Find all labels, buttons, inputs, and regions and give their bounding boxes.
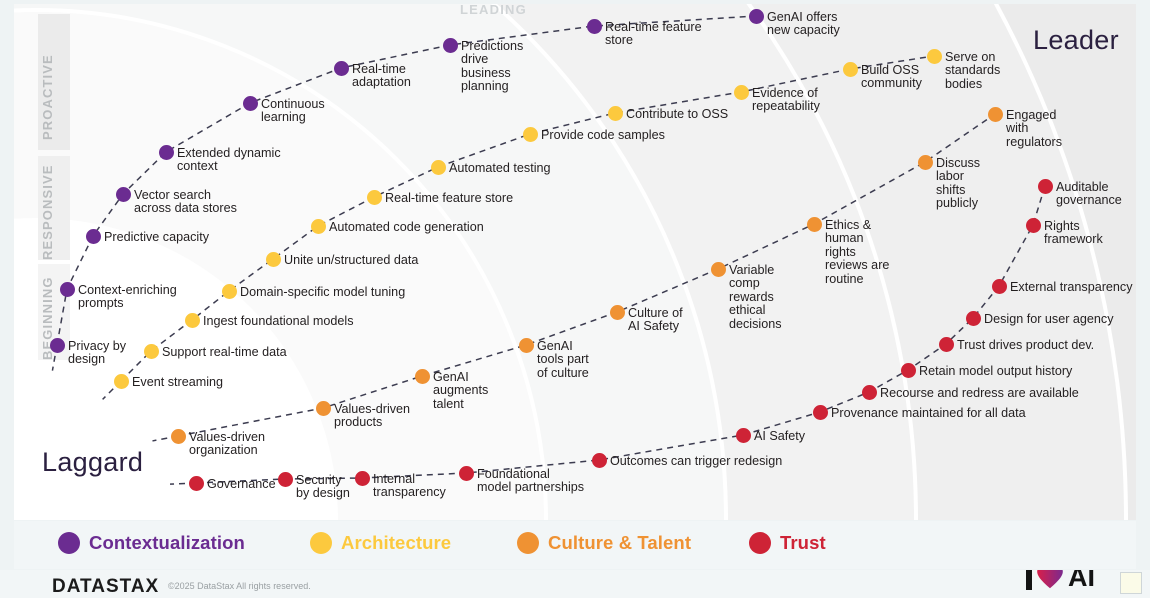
data-point[interactable] bbox=[316, 401, 331, 416]
data-point-label: Retain model output history bbox=[919, 365, 1072, 378]
legend-item-0[interactable]: Contextualization bbox=[58, 532, 245, 554]
copyright-text: ©2025 DataStax All rights reserved. bbox=[168, 581, 311, 591]
data-point-label: Provide code samples bbox=[541, 129, 665, 142]
legend-item-2[interactable]: Culture & Talent bbox=[517, 532, 691, 554]
data-point[interactable] bbox=[459, 466, 474, 481]
legend-item-3[interactable]: Trust bbox=[749, 532, 826, 554]
data-point[interactable] bbox=[443, 38, 458, 53]
data-point-label: Design for user agency bbox=[984, 313, 1114, 326]
data-point[interactable] bbox=[144, 344, 159, 359]
legend-swatch bbox=[749, 532, 771, 554]
data-point-label: AI Safety bbox=[754, 430, 805, 443]
data-point[interactable] bbox=[734, 85, 749, 100]
data-point[interactable] bbox=[311, 219, 326, 234]
data-point[interactable] bbox=[334, 61, 349, 76]
data-point-label: Vector search across data stores bbox=[134, 189, 237, 216]
data-point[interactable] bbox=[185, 313, 200, 328]
data-point[interactable] bbox=[711, 262, 726, 277]
data-point-label: Contribute to OSS bbox=[626, 108, 728, 121]
data-point-label: Ethics & human rights reviews are routin… bbox=[825, 219, 889, 286]
data-point[interactable] bbox=[843, 62, 858, 77]
data-point[interactable] bbox=[608, 106, 623, 121]
data-point[interactable] bbox=[355, 471, 370, 486]
data-point-label: External transparency bbox=[1010, 281, 1133, 294]
legend-label: Architecture bbox=[341, 532, 451, 554]
data-point[interactable] bbox=[431, 160, 446, 175]
data-point[interactable] bbox=[992, 279, 1007, 294]
data-point-label: Security by design bbox=[296, 474, 350, 501]
data-point-label: Outcomes can trigger redesign bbox=[610, 455, 782, 468]
data-point[interactable] bbox=[50, 338, 65, 353]
data-point[interactable] bbox=[367, 190, 382, 205]
legend-item-1[interactable]: Architecture bbox=[310, 532, 451, 554]
data-point-label: Real-time feature store bbox=[385, 192, 513, 205]
data-point-label: Automated code generation bbox=[329, 221, 484, 234]
data-point[interactable] bbox=[523, 127, 538, 142]
data-point-label: Variable comp rewards ethical decisions bbox=[729, 264, 782, 331]
data-point-label: Recourse and redress are available bbox=[880, 387, 1079, 400]
data-point-label: Internal transparency bbox=[373, 473, 446, 500]
data-point[interactable] bbox=[60, 282, 75, 297]
data-point-label: Auditable governance bbox=[1056, 181, 1122, 208]
data-point[interactable] bbox=[813, 405, 828, 420]
data-point[interactable] bbox=[278, 472, 293, 487]
data-point-label: Real-time feature store bbox=[605, 21, 702, 48]
data-point[interactable] bbox=[988, 107, 1003, 122]
data-point-label: Automated testing bbox=[449, 162, 551, 175]
legend-label: Trust bbox=[780, 532, 826, 554]
data-point-label: Predictive capacity bbox=[104, 231, 209, 244]
data-point-label: GenAI augments talent bbox=[433, 371, 488, 411]
data-point[interactable] bbox=[610, 305, 625, 320]
data-point[interactable] bbox=[159, 145, 174, 160]
data-point-label: Predictions drive business planning bbox=[461, 40, 523, 94]
data-point-label: Context-enriching prompts bbox=[78, 284, 177, 311]
data-point-label: Privacy by design bbox=[68, 340, 126, 367]
data-point[interactable] bbox=[415, 369, 430, 384]
logo-letter-i bbox=[1026, 570, 1032, 590]
data-point-label: Extended dynamic context bbox=[177, 147, 281, 174]
data-point[interactable] bbox=[927, 49, 942, 64]
data-point-label: Culture of AI Safety bbox=[628, 307, 683, 334]
data-point[interactable] bbox=[171, 429, 186, 444]
data-point[interactable] bbox=[116, 187, 131, 202]
data-point[interactable] bbox=[266, 252, 281, 267]
data-point-label: Real-time adaptation bbox=[352, 63, 411, 90]
chart-plot-area: LEADING PROACTIVE RESPONSIVE BEGINNING L… bbox=[14, 4, 1136, 520]
data-point-label: Build OSS community bbox=[861, 64, 922, 91]
legend-label: Contextualization bbox=[89, 532, 245, 554]
datastax-wordmark: DATASTAX bbox=[52, 576, 159, 598]
data-point-label: Trust drives product dev. bbox=[957, 339, 1094, 352]
data-point[interactable] bbox=[86, 229, 101, 244]
data-point[interactable] bbox=[966, 311, 981, 326]
data-point[interactable] bbox=[1026, 218, 1041, 233]
data-point[interactable] bbox=[519, 338, 534, 353]
legend-swatch bbox=[58, 532, 80, 554]
corner-marker bbox=[1120, 572, 1142, 594]
data-point[interactable] bbox=[901, 363, 916, 378]
data-point[interactable] bbox=[587, 19, 602, 34]
logo-text-ai: AI bbox=[1068, 570, 1095, 589]
data-point-label: GenAI offers new capacity bbox=[767, 11, 840, 38]
data-point[interactable] bbox=[189, 476, 204, 491]
band-label-proactive: PROACTIVE bbox=[40, 20, 55, 140]
data-point-label: Foundational model partnerships bbox=[477, 468, 584, 495]
band-label-leading: LEADING bbox=[460, 4, 527, 17]
data-point-label: Discuss labor shifts publicly bbox=[936, 157, 980, 211]
footer-bar: DATASTAX ©2025 DataStax All rights reser… bbox=[0, 570, 1150, 598]
data-point-label: Serve on standards bodies bbox=[945, 51, 1000, 91]
data-point[interactable] bbox=[222, 284, 237, 299]
data-point[interactable] bbox=[807, 217, 822, 232]
data-point[interactable] bbox=[736, 428, 751, 443]
data-point[interactable] bbox=[114, 374, 129, 389]
data-point-label: Continuous learning bbox=[261, 98, 325, 125]
data-point[interactable] bbox=[939, 337, 954, 352]
legend-label: Culture & Talent bbox=[548, 532, 691, 554]
data-point-label: Ingest foundational models bbox=[203, 315, 354, 328]
corner-label-leader: Leader bbox=[1033, 25, 1119, 56]
data-point[interactable] bbox=[862, 385, 877, 400]
maturity-model-chart: LEADING PROACTIVE RESPONSIVE BEGINNING L… bbox=[0, 0, 1150, 598]
corner-label-laggard: Laggard bbox=[42, 447, 143, 478]
heart-icon bbox=[1037, 570, 1063, 589]
data-point[interactable] bbox=[1038, 179, 1053, 194]
data-point-label: Values-driven organization bbox=[189, 431, 265, 458]
legend-swatch bbox=[517, 532, 539, 554]
band-label-responsive: RESPONSIVE bbox=[40, 162, 55, 260]
data-point-label: Provenance maintained for all data bbox=[831, 407, 1026, 420]
data-point[interactable] bbox=[592, 453, 607, 468]
data-point-label: Unite un/structured data bbox=[284, 254, 418, 267]
data-point-label: Values-driven products bbox=[334, 403, 410, 430]
data-point-label: Support real-time data bbox=[162, 346, 287, 359]
chart-legend: ContextualizationArchitectureCulture & T… bbox=[14, 521, 1136, 569]
i-heart-ai-logo: AI bbox=[1026, 570, 1095, 590]
data-point[interactable] bbox=[243, 96, 258, 111]
data-point-label: Governance bbox=[207, 478, 276, 491]
legend-swatch bbox=[310, 532, 332, 554]
data-point-label: Rights framework bbox=[1044, 220, 1103, 247]
data-point[interactable] bbox=[749, 9, 764, 24]
data-point-label: Domain-specific model tuning bbox=[240, 286, 405, 299]
data-point[interactable] bbox=[918, 155, 933, 170]
data-point-label: Engaged with regulators bbox=[1006, 109, 1062, 149]
data-point-label: Event streaming bbox=[132, 376, 223, 389]
data-point-label: Evidence of repeatability bbox=[752, 87, 820, 114]
data-point-label: GenAI tools part of culture bbox=[537, 340, 589, 380]
